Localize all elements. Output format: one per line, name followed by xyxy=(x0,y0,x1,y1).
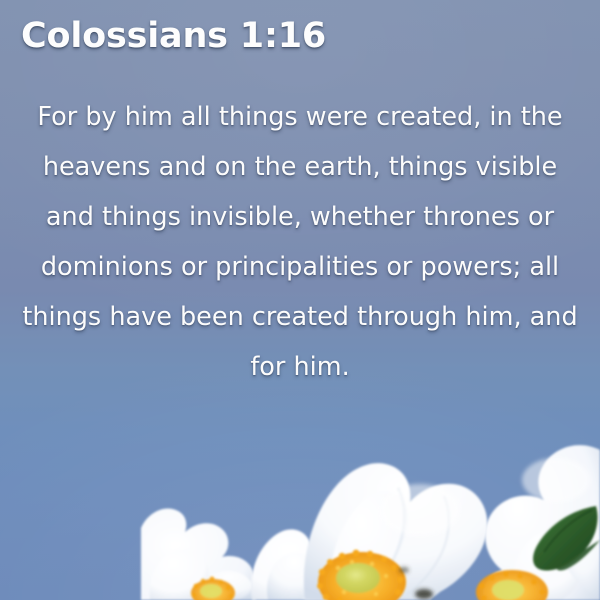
verse-text-block: For by him all things were created, in t… xyxy=(0,92,600,392)
verse-image-card: Colossians 1:16 For by him all things we… xyxy=(0,0,600,600)
verse-line: For by him all things were created, in t… xyxy=(22,92,578,142)
verse-line: for him. xyxy=(22,342,578,392)
verse-line: heavens and on the earth, things visible xyxy=(22,142,578,192)
verse-line: things have been created through him, an… xyxy=(22,292,578,342)
verse-reference-title: Colossians 1:16 xyxy=(21,16,326,56)
flower-photo-region xyxy=(0,410,600,600)
verse-line: dominions or principalities or powers; a… xyxy=(22,242,578,292)
verse-line: and things invisible, whether thrones or xyxy=(22,192,578,242)
